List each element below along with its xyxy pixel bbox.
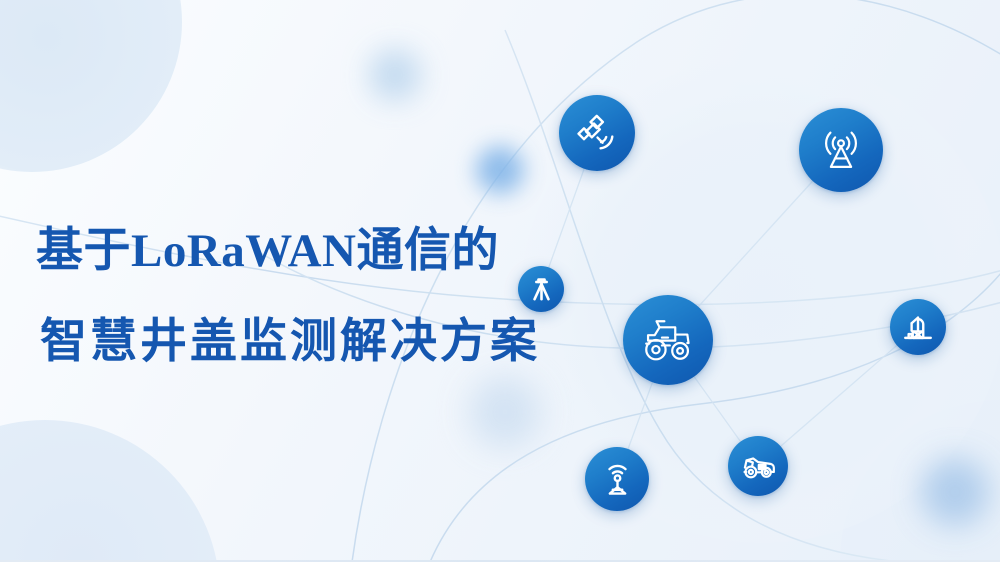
page-title-line-2: 智慧井盖监测解决方案 (28, 319, 588, 366)
presentation-slide: 基于LoRaWAN通信的 智慧井盖监测解决方案 (0, 0, 1000, 562)
icon-node-tractor[interactable] (623, 295, 713, 385)
harvester-vehicle-icon (739, 447, 777, 485)
oil-pumpjack-icon (900, 309, 936, 345)
title-block: 基于LoRaWAN通信的 智慧井盖监测解决方案 (28, 228, 588, 366)
icon-node-oil-pumpjack[interactable] (890, 299, 946, 355)
satellite-icon (573, 109, 622, 158)
radio-tower-icon (814, 123, 868, 177)
page-title-line-1: 基于LoRaWAN通信的 (28, 228, 588, 275)
icon-node-satellite[interactable] (559, 95, 635, 171)
icon-node-radio-tower[interactable] (799, 108, 883, 192)
tractor-icon (639, 311, 697, 369)
wireless-sensor-icon (597, 459, 638, 500)
icon-node-harvester[interactable] (728, 436, 788, 496)
icon-node-wireless-sensor[interactable] (585, 447, 649, 511)
